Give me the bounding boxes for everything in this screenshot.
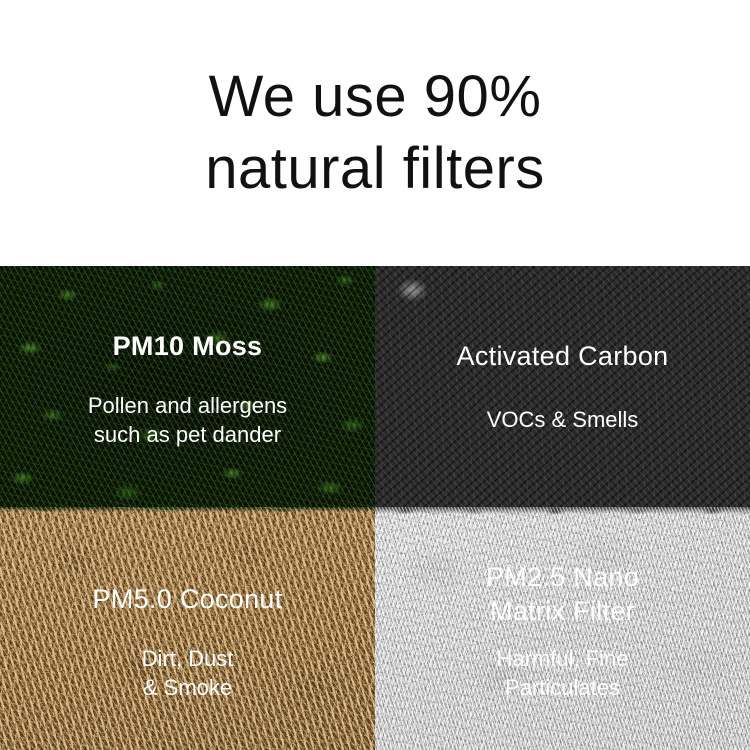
filter-card-moss-subtitle: Pollen and allergens such as pet dander	[88, 391, 287, 449]
coconut-top-edge-sliver	[0, 507, 375, 512]
filter-card-nano-subtitle: Harmful, Fine Particulates	[496, 644, 628, 702]
filter-card-nano-title: PM2.5 Nano Matrix Filter	[486, 560, 639, 628]
filter-card-moss-title: PM10 Moss	[113, 329, 263, 363]
filter-card-moss[interactable]: PM10 Moss Pollen and allergens such as p…	[0, 266, 375, 507]
filter-card-coconut-subtitle: Dirt, Dust & Smoke	[142, 644, 234, 702]
nano-top-edge-sliver	[375, 507, 750, 514]
filter-card-coconut[interactable]: PM5.0 Coconut Dirt, Dust & Smoke	[0, 507, 375, 750]
filter-card-carbon-text: Activated Carbon VOCs & Smells	[375, 339, 750, 434]
filter-card-nano[interactable]: PM2.5 Nano Matrix Filter Harmful, Fine P…	[375, 507, 750, 750]
filter-card-carbon[interactable]: Activated Carbon VOCs & Smells	[375, 266, 750, 507]
heading-line-1: We use 90%	[209, 61, 542, 133]
filter-card-coconut-text: PM5.0 Coconut Dirt, Dust & Smoke	[0, 556, 375, 702]
filter-quadrant-grid: PM10 Moss Pollen and allergens such as p…	[0, 266, 750, 750]
filter-card-moss-text: PM10 Moss Pollen and allergens such as p…	[0, 325, 375, 449]
filter-card-carbon-title: Activated Carbon	[457, 339, 669, 373]
filter-card-carbon-subtitle: VOCs & Smells	[487, 405, 639, 434]
filter-card-nano-text: PM2.5 Nano Matrix Filter Harmful, Fine P…	[375, 556, 750, 702]
filter-card-coconut-title: PM5.0 Coconut	[93, 582, 283, 616]
heading-line-2: natural filters	[205, 133, 545, 205]
page-heading: We use 90% natural filters	[0, 0, 750, 266]
infographic-page: We use 90% natural filters PM10 Moss Pol…	[0, 0, 750, 750]
